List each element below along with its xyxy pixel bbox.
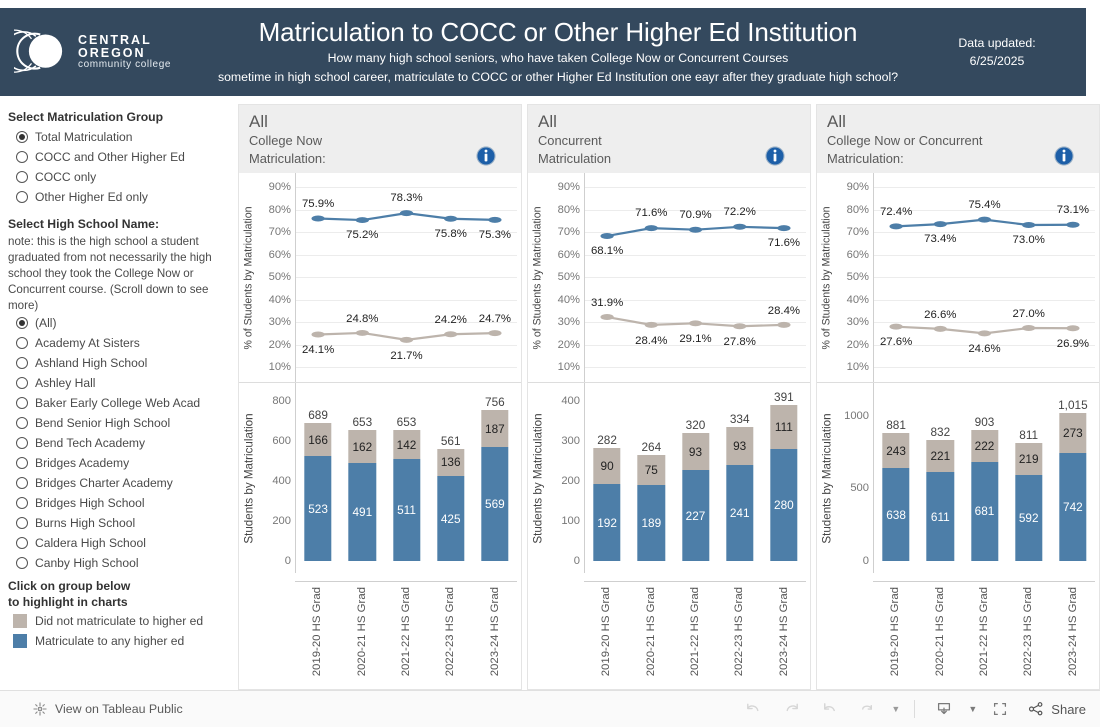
bar-total-label: 811: [1019, 428, 1038, 442]
y-tick-label: 30%: [269, 316, 291, 328]
refresh-icon[interactable]: [850, 695, 884, 723]
data-point: [1066, 222, 1079, 228]
bar-total-label: 264: [641, 440, 661, 454]
data-point: [689, 320, 702, 326]
high-school-option-label: Bridges Charter Academy: [35, 476, 173, 490]
high-school-option-11[interactable]: Caldera High School: [8, 533, 228, 553]
radio-button-icon[interactable]: [16, 557, 28, 569]
data-label: 68.1%: [591, 245, 623, 257]
y-tick-label: 100: [561, 515, 580, 527]
x-axis-line: [584, 581, 806, 582]
legend-item-1[interactable]: Matriculate to any higher ed: [8, 631, 228, 651]
bar-label-matriculated: 742: [1063, 500, 1083, 514]
panel-title-line2: College Now or Concurrent: [827, 132, 1089, 149]
x-tick-label: 2019-20 HS Grad: [889, 587, 901, 676]
x-tick-label: 2021-22 HS Grad: [978, 587, 990, 676]
radio-button-icon[interactable]: [16, 477, 28, 489]
radio-button-icon[interactable]: [16, 317, 28, 329]
bar-column[interactable]: 136425561: [437, 383, 464, 573]
data-label: 72.2%: [724, 206, 756, 218]
data-point: [488, 330, 501, 336]
radio-button-icon[interactable]: [16, 337, 28, 349]
data-label: 78.3%: [390, 192, 422, 204]
high-school-option-6[interactable]: Bend Tech Academy: [8, 433, 228, 453]
data-label: 73.4%: [924, 233, 956, 245]
x-tick-label: 2022-23 HS Grad: [733, 587, 745, 676]
data-label: 71.6%: [768, 237, 800, 249]
line-plot-area: 75.9%75.2%78.3%75.8%75.3%24.1%24.8%21.7%…: [295, 173, 517, 382]
radio-button-icon[interactable]: [16, 377, 28, 389]
y-tick-label: 40%: [269, 294, 291, 306]
view-on-tableau-public-link[interactable]: View on Tableau Public: [32, 701, 183, 717]
bar-label-matriculated: 611: [931, 510, 950, 524]
high-school-option-0[interactable]: (All): [8, 313, 228, 333]
x-tick-label: 2023-24 HS Grad: [1067, 587, 1079, 676]
panel-title-line3: Matriculation: [538, 150, 800, 167]
bar-column[interactable]: 162491653: [349, 383, 376, 573]
bar-total-label: 1,015: [1058, 398, 1088, 412]
y-axis-ticks: 05001000: [835, 383, 871, 573]
data-label: 24.6%: [968, 343, 1000, 355]
chart-panel-1: AllConcurrentMatriculation % of Students…: [527, 104, 811, 690]
radio-button-icon[interactable]: [16, 151, 28, 163]
y-tick-label: 80%: [269, 204, 291, 216]
bar-chart-1: Students by Matriculation010020030040090…: [528, 383, 810, 573]
x-tick-label: 2022-23 HS Grad: [444, 587, 456, 676]
filter-sidebar: Select Matriculation Group Total Matricu…: [0, 104, 236, 690]
line-plot-area: 72.4%73.4%75.4%73.0%73.1%27.6%26.6%24.6%…: [873, 173, 1095, 382]
bar-chart-2: Students by Matriculation050010002436388…: [817, 383, 1099, 573]
bar-column[interactable]: 93241334: [726, 383, 753, 573]
high-school-option-4[interactable]: Baker Early College Web Acad: [8, 393, 228, 413]
y-tick-label: 0: [863, 555, 869, 567]
x-axis-2: 2019-20 HS Grad2020-21 HS Grad2021-22 HS…: [817, 581, 1099, 689]
panel-title-1: AllConcurrentMatriculation: [528, 105, 810, 173]
fullscreen-icon[interactable]: [983, 695, 1017, 723]
radio-button-icon[interactable]: [16, 517, 28, 529]
panel-title-line2: College Now: [249, 132, 511, 149]
x-tick-label: 2022-23 HS Grad: [1022, 587, 1034, 676]
panel-title-line1: All: [827, 111, 1089, 132]
data-point: [934, 326, 947, 332]
cocc-logo-icon: [14, 24, 70, 80]
data-point: [777, 322, 790, 328]
y-axis-title: Students by Matriculation: [241, 383, 257, 573]
data-label: 70.9%: [679, 209, 711, 221]
bar-label-matriculated: 638: [886, 508, 906, 522]
matriculation-group-option-1[interactable]: COCC and Other Higher Ed: [8, 147, 228, 167]
bar-label-did-not-matriculate: 136: [441, 455, 461, 469]
bar-label-matriculated: 592: [1019, 511, 1039, 525]
tableau-toolbar: View on Tableau Public: [0, 690, 1100, 727]
y-tick-label: 70%: [847, 226, 869, 238]
data-updated-block: Data updated: 6/25/2025: [916, 34, 1086, 71]
bar-label-did-not-matriculate: 187: [485, 422, 505, 436]
panel-title-2: AllCollege Now or ConcurrentMatriculatio…: [817, 105, 1099, 173]
tableau-icon: [32, 701, 48, 717]
toolbar-actions: ▼ ▼ Share: [736, 695, 1100, 723]
bar-column[interactable]: 90192282: [593, 383, 620, 573]
data-point: [400, 210, 413, 216]
bar-column[interactable]: 142511653: [393, 383, 420, 573]
y-tick-label: 400: [272, 475, 291, 487]
radio-button-icon[interactable]: [16, 457, 28, 469]
y-tick-label: 60%: [847, 249, 869, 261]
x-tick-label: 2021-22 HS Grad: [689, 587, 701, 676]
x-axis-0: 2019-20 HS Grad2020-21 HS Grad2021-22 HS…: [239, 581, 521, 689]
bar-label-did-not-matriculate: 273: [1063, 426, 1083, 440]
bar-column[interactable]: 75189264: [638, 383, 665, 573]
y-axis-ticks: 0100200300400: [546, 383, 582, 573]
data-label: 28.4%: [635, 335, 667, 347]
panel-title-line3: Matriculation:: [827, 150, 1089, 167]
data-point: [444, 331, 457, 337]
bar-label-did-not-matriculate: 75: [645, 463, 658, 477]
undo-icon[interactable]: [736, 695, 770, 723]
revert-icon[interactable]: [812, 695, 846, 723]
legend-heading: Click on group below to highlight in cha…: [8, 579, 228, 610]
radio-button-icon[interactable]: [16, 537, 28, 549]
matriculation-group-option-2[interactable]: COCC only: [8, 167, 228, 187]
data-label: 31.9%: [591, 297, 623, 309]
high-school-option-label: Baker Early College Web Acad: [35, 396, 200, 410]
x-tick-label: 2019-20 HS Grad: [600, 587, 612, 676]
y-tick-label: 10%: [558, 361, 580, 373]
download-dropdown-caret-icon[interactable]: ▼: [965, 695, 979, 723]
bar-column[interactable]: 166523689: [304, 383, 331, 573]
high-school-option-3[interactable]: Ashley Hall: [8, 373, 228, 393]
y-axis-title: Students by Matriculation: [819, 383, 835, 573]
bar-column[interactable]: 243638881: [882, 383, 909, 573]
data-label: 73.1%: [1057, 204, 1089, 216]
y-axis-ticks: 90%80%70%60%50%40%30%20%10%: [257, 173, 293, 382]
radio-button-icon[interactable]: [16, 397, 28, 409]
info-icon[interactable]: [764, 145, 786, 167]
toolbar-divider: [914, 700, 915, 718]
share-label: Share: [1051, 702, 1086, 717]
y-tick-label: 500: [850, 482, 869, 494]
bar-label-did-not-matriculate: 221: [930, 449, 950, 463]
bar-label-matriculated: 241: [730, 506, 750, 520]
y-tick-label: 20%: [269, 339, 291, 351]
logo-line2: community college: [78, 60, 200, 71]
y-tick-label: 70%: [269, 226, 291, 238]
dashboard-header: CENTRAL OREGON community college Matricu…: [0, 8, 1086, 96]
radio-button-icon[interactable]: [16, 131, 28, 143]
bar-column[interactable]: 219592811: [1015, 383, 1042, 573]
cocc-logo: CENTRAL OREGON community college: [0, 8, 200, 96]
share-button[interactable]: Share: [1021, 700, 1086, 718]
legend-swatch[interactable]: [13, 634, 27, 648]
radio-button-icon[interactable]: [16, 171, 28, 183]
bar-total-label: 282: [597, 433, 617, 447]
data-label: 75.8%: [435, 228, 467, 240]
bar-total-label: 391: [774, 390, 794, 404]
data-label: 26.9%: [1057, 338, 1089, 350]
high-school-option-label: Bridges High School: [35, 496, 145, 510]
y-tick-label: 200: [561, 475, 580, 487]
data-label: 24.2%: [435, 314, 467, 326]
y-axis-title: % of Students by Matriculation: [530, 173, 546, 382]
high-school-option-label: Bend Senior High School: [35, 416, 170, 430]
y-tick-label: 60%: [558, 249, 580, 261]
y-tick-label: 80%: [847, 204, 869, 216]
bar-label-matriculated: 280: [774, 498, 794, 512]
bar-column[interactable]: 222681903: [971, 383, 998, 573]
x-axis-line: [295, 581, 517, 582]
bar-column[interactable]: 221611832: [927, 383, 954, 573]
y-tick-label: 0: [574, 555, 580, 567]
info-icon[interactable]: [475, 145, 497, 167]
y-tick-label: 90%: [558, 181, 580, 193]
data-point: [356, 330, 369, 336]
matriculation-group-option-0[interactable]: Total Matriculation: [8, 127, 228, 147]
bar-chart-0: Students by Matriculation020040060080016…: [239, 383, 521, 573]
redo-icon[interactable]: [774, 695, 808, 723]
y-tick-label: 400: [561, 395, 580, 407]
data-label: 75.9%: [302, 198, 334, 210]
data-label: 27.0%: [1013, 308, 1045, 320]
data-point: [400, 337, 413, 343]
y-tick-label: 800: [272, 395, 291, 407]
x-axis-line: [873, 581, 1095, 582]
bar-column[interactable]: 111280391: [770, 383, 797, 573]
data-point: [889, 223, 902, 229]
page-subtitle-line1: How many high school seniors, who have t…: [204, 50, 912, 68]
radio-button-icon[interactable]: [16, 357, 28, 369]
bar-label-matriculated: 511: [397, 503, 416, 517]
bar-label-matriculated: 569: [485, 497, 505, 511]
data-point: [733, 224, 746, 230]
data-label: 24.1%: [302, 344, 334, 356]
high-school-radiolist[interactable]: (All)Academy At SistersAshland High Scho…: [8, 313, 228, 573]
high-school-option-label: Academy At Sisters: [35, 336, 140, 350]
y-axis-ticks: 90%80%70%60%50%40%30%20%10%: [546, 173, 582, 382]
data-point: [488, 217, 501, 223]
high-school-option-7[interactable]: Bridges Academy: [8, 453, 228, 473]
bar-label-did-not-matriculate: 90: [601, 459, 614, 473]
data-point: [889, 324, 902, 330]
bar-label-matriculated: 227: [686, 509, 706, 523]
bar-plot-area: 1665236891624916531425116531364255611875…: [295, 383, 517, 573]
info-icon[interactable]: [1053, 145, 1075, 167]
bar-label-did-not-matriculate: 162: [352, 440, 372, 454]
bar-plot-area: 2436388812216118322226819032195928112737…: [873, 383, 1095, 573]
y-tick-label: 20%: [847, 339, 869, 351]
logo-line1: CENTRAL OREGON: [78, 34, 200, 60]
high-school-option-12[interactable]: Canby High School: [8, 553, 228, 573]
y-axis-ticks: 90%80%70%60%50%40%30%20%10%: [835, 173, 871, 382]
line-chart-0: % of Students by Matriculation90%80%70%6…: [239, 173, 521, 383]
data-point: [689, 227, 702, 233]
legend-label: Matriculate to any higher ed: [35, 634, 184, 648]
bar-label-did-not-matriculate: 142: [397, 438, 417, 452]
y-axis-ticks: 0200400600800: [257, 383, 293, 573]
data-label: 24.8%: [346, 313, 378, 325]
line-plot-area: 68.1%71.6%70.9%72.2%71.6%31.9%28.4%29.1%…: [584, 173, 806, 382]
data-label: 75.3%: [479, 229, 511, 241]
x-tick-label: 2020-21 HS Grad: [934, 587, 946, 676]
panel-title-line2: Concurrent: [538, 132, 800, 149]
high-school-option-10[interactable]: Burns High School: [8, 513, 228, 533]
radio-button-icon[interactable]: [16, 191, 28, 203]
line-chart-2: % of Students by Matriculation90%80%70%6…: [817, 173, 1099, 383]
bar-label-matriculated: 192: [597, 516, 617, 530]
matriculation-group-heading: Select Matriculation Group: [8, 110, 228, 124]
chart-legend[interactable]: Did not matriculate to higher edMatricul…: [8, 611, 228, 651]
data-point: [356, 217, 369, 223]
panel-title-line1: All: [538, 111, 800, 132]
bar-total-label: 756: [485, 395, 505, 409]
bar-total-label: 689: [308, 408, 328, 422]
radio-button-icon[interactable]: [16, 437, 28, 449]
high-school-option-5[interactable]: Bend Senior High School: [8, 413, 228, 433]
high-school-option-label: Bend Tech Academy: [35, 436, 145, 450]
bar-label-did-not-matriculate: 166: [308, 433, 328, 447]
bar-label-did-not-matriculate: 243: [886, 444, 906, 458]
y-tick-label: 30%: [558, 316, 580, 328]
y-tick-label: 50%: [269, 271, 291, 283]
high-school-option-label: Canby High School: [35, 556, 139, 570]
y-axis-title: % of Students by Matriculation: [819, 173, 835, 382]
data-point: [1022, 325, 1035, 331]
bar-column[interactable]: 187569756: [481, 383, 508, 573]
legend-item-0[interactable]: Did not matriculate to higher ed: [8, 611, 228, 631]
data-point: [777, 225, 790, 231]
bar-total-label: 320: [686, 418, 706, 432]
data-point: [978, 217, 991, 223]
page-title: Matriculation to COCC or Other Higher Ed…: [204, 17, 912, 48]
data-point: [934, 221, 947, 227]
bar-label-matriculated: 189: [641, 516, 661, 530]
bar-total-label: 653: [352, 415, 372, 429]
download-icon[interactable]: [927, 695, 961, 723]
high-school-note: note: this is the high school a student …: [8, 234, 228, 313]
data-point: [1022, 222, 1035, 228]
data-label: 28.4%: [768, 305, 800, 317]
y-axis-title: % of Students by Matriculation: [241, 173, 257, 382]
data-label: 71.6%: [635, 207, 667, 219]
bar-total-label: 881: [886, 418, 906, 432]
matriculation-group-radiolist[interactable]: Total MatriculationCOCC and Other Higher…: [8, 127, 228, 207]
matriculation-group-option-label: Total Matriculation: [35, 130, 132, 144]
y-tick-label: 20%: [558, 339, 580, 351]
data-point: [444, 216, 457, 222]
bar-column[interactable]: 2737421,015: [1059, 383, 1086, 573]
high-school-option-2[interactable]: Ashland High School: [8, 353, 228, 373]
data-point: [311, 216, 324, 222]
data-label: 75.4%: [968, 199, 1000, 211]
data-point: [645, 322, 658, 328]
data-label: 73.0%: [1013, 234, 1045, 246]
chart-panel-2: AllCollege Now or ConcurrentMatriculatio…: [816, 104, 1100, 690]
chart-panels: AllCollege NowMatriculation: % of Studen…: [238, 104, 1100, 690]
chart-panel-0: AllCollege NowMatriculation: % of Studen…: [238, 104, 522, 690]
high-school-option-label: Bridges Academy: [35, 456, 129, 470]
y-tick-label: 90%: [847, 181, 869, 193]
high-school-option-9[interactable]: Bridges High School: [8, 493, 228, 513]
y-tick-label: 600: [272, 435, 291, 447]
data-label: 75.2%: [346, 229, 378, 241]
bar-label-matriculated: 681: [975, 504, 995, 518]
bar-total-label: 561: [441, 434, 461, 448]
data-label: 24.7%: [479, 313, 511, 325]
high-school-option-1[interactable]: Academy At Sisters: [8, 333, 228, 353]
view-on-tableau-public-label: View on Tableau Public: [55, 702, 183, 716]
high-school-option-label: (All): [35, 316, 57, 330]
share-icon: [1027, 700, 1045, 718]
y-tick-label: 50%: [558, 271, 580, 283]
data-label: 21.7%: [390, 350, 422, 362]
dashboard-root: CENTRAL OREGON community college Matricu…: [0, 0, 1100, 727]
x-tick-label: 2019-20 HS Grad: [311, 587, 323, 676]
legend-swatch[interactable]: [13, 614, 27, 628]
high-school-option-8[interactable]: Bridges Charter Academy: [8, 473, 228, 493]
y-tick-label: 10%: [269, 361, 291, 373]
panel-title-line1: All: [249, 111, 511, 132]
data-updated-label: Data updated:: [916, 34, 1078, 52]
bar-total-label: 653: [397, 415, 417, 429]
y-axis-title: Students by Matriculation: [530, 383, 546, 573]
bar-column[interactable]: 93227320: [682, 383, 709, 573]
high-school-heading: Select High School Name:: [8, 217, 228, 231]
y-tick-label: 1000: [844, 410, 869, 422]
data-label: 72.4%: [880, 206, 912, 218]
data-label: 27.6%: [880, 336, 912, 348]
high-school-option-label: Ashland High School: [35, 356, 147, 370]
radio-button-icon[interactable]: [16, 497, 28, 509]
bar-total-label: 334: [730, 412, 750, 426]
matriculation-group-option-label: Other Higher Ed only: [35, 190, 148, 204]
bar-total-label: 903: [975, 415, 995, 429]
matriculation-group-option-3[interactable]: Other Higher Ed only: [8, 187, 228, 207]
pause-dropdown-caret-icon[interactable]: ▼: [888, 695, 902, 723]
data-point: [645, 225, 658, 231]
bar-label-matriculated: 491: [352, 505, 372, 519]
data-point: [733, 323, 746, 329]
y-tick-label: 10%: [847, 361, 869, 373]
bar-label-did-not-matriculate: 93: [733, 439, 746, 453]
bar-label-did-not-matriculate: 219: [1019, 452, 1039, 466]
data-point: [311, 332, 324, 338]
page-title-block: Matriculation to COCC or Other Higher Ed…: [200, 17, 916, 87]
bar-plot-area: 9019228275189264932273209324133411128039…: [584, 383, 806, 573]
data-label: 26.6%: [924, 309, 956, 321]
high-school-option-label: Burns High School: [35, 516, 135, 530]
panel-title-0: AllCollege NowMatriculation:: [239, 105, 521, 173]
x-axis-1: 2019-20 HS Grad2020-21 HS Grad2021-22 HS…: [528, 581, 810, 689]
legend-label: Did not matriculate to higher ed: [35, 614, 203, 628]
y-tick-label: 300: [561, 435, 580, 447]
high-school-option-label: Ashley Hall: [35, 376, 96, 390]
y-tick-label: 70%: [558, 226, 580, 238]
page-subtitle-line2: sometime in high school career, matricul…: [204, 69, 912, 87]
bar-label-did-not-matriculate: 222: [975, 439, 995, 453]
y-tick-label: 40%: [558, 294, 580, 306]
matriculation-group-option-label: COCC and Other Higher Ed: [35, 150, 185, 164]
y-tick-label: 80%: [558, 204, 580, 216]
y-tick-label: 0: [285, 555, 291, 567]
bar-label-matriculated: 523: [308, 502, 328, 516]
y-tick-label: 200: [272, 515, 291, 527]
data-point: [978, 330, 991, 336]
radio-button-icon[interactable]: [16, 417, 28, 429]
y-tick-label: 40%: [847, 294, 869, 306]
x-tick-label: 2021-22 HS Grad: [400, 587, 412, 676]
data-label: 27.8%: [724, 336, 756, 348]
data-point: [1066, 325, 1079, 331]
data-label: 29.1%: [679, 333, 711, 345]
